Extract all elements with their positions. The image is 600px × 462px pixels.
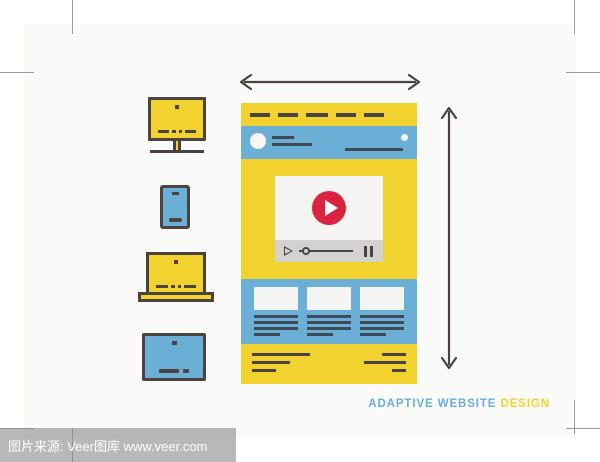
- card-text-lines: [360, 315, 404, 336]
- footer-right-line-2: [364, 361, 406, 364]
- crop-mark-top-left-horizontal: [0, 72, 34, 73]
- laptop-icon: [130, 252, 224, 304]
- caption-primary: ADAPTIVE WEBSITE: [368, 398, 496, 410]
- card-image-placeholder: [360, 287, 404, 310]
- phone-home-button: [169, 218, 182, 222]
- tablet-body: [142, 333, 206, 381]
- height-dimension-arrow: [439, 103, 459, 373]
- mockup-hero-header: [241, 126, 417, 159]
- header-text-line-2: [272, 143, 312, 146]
- watermark-text: 图片来源: Veer图库 www.veer.com: [8, 436, 207, 455]
- caption-accent: DESIGN: [501, 398, 551, 410]
- mockup-footer: [241, 344, 417, 384]
- card-image-placeholder: [254, 287, 298, 310]
- footer-left-line-2: [252, 361, 290, 364]
- avatar: [250, 133, 266, 149]
- watermark-bar: 图片来源: Veer图库 www.veer.com: [0, 428, 236, 462]
- website-mockup: [241, 103, 417, 384]
- smartphone-icon: [130, 185, 224, 233]
- device-icon-column: [130, 95, 230, 395]
- card-image-placeholder: [307, 287, 351, 310]
- laptop-content-bars: [156, 285, 196, 288]
- desktop-monitor-icon: [130, 95, 224, 155]
- monitor-screen: [148, 97, 206, 141]
- footer-left-line-1: [252, 353, 310, 356]
- laptop-screen: [146, 252, 206, 292]
- crop-mark-top-right-horizontal: [566, 72, 600, 73]
- header-text-line-3: [345, 148, 403, 151]
- footer-left-line-3: [252, 369, 276, 372]
- tablet-icon: [130, 333, 224, 385]
- play-button-icon[interactable]: [312, 191, 346, 225]
- mockup-nav-bar: [241, 103, 417, 126]
- content-card: [360, 287, 404, 339]
- card-text-lines: [307, 315, 351, 336]
- monitor-camera-dot: [175, 105, 179, 109]
- illustration-canvas: ADAPTIVE WEBSITE DESIGN 图片来源: Veer图库 www…: [0, 0, 600, 462]
- content-card: [254, 287, 298, 339]
- mockup-three-column-section: [241, 279, 417, 344]
- crop-mark-top-right-vertical: [574, 0, 575, 34]
- play-triangle-icon: [325, 200, 338, 216]
- card-text-lines: [254, 315, 298, 336]
- laptop-camera-dot: [174, 260, 178, 264]
- phone-speaker-slot: [172, 192, 179, 195]
- video-controls-bar: [275, 240, 383, 262]
- laptop-keyboard-base: [138, 292, 214, 302]
- video-player: [275, 176, 383, 262]
- footer-right-line-3: [392, 369, 406, 372]
- control-play-icon-inner: [285, 248, 291, 254]
- monitor-stand-base: [150, 150, 204, 153]
- notification-dot-icon: [401, 134, 408, 141]
- width-dimension-arrow: [236, 72, 424, 92]
- progress-slider-knob[interactable]: [302, 247, 310, 255]
- tablet-content-bars: [159, 369, 189, 373]
- monitor-content-bars: [158, 130, 196, 133]
- control-pause-icon[interactable]: [364, 246, 373, 257]
- crop-mark-bottom-right-horizontal: [566, 428, 600, 429]
- footer-right-line-1: [382, 353, 406, 356]
- content-card: [307, 287, 351, 339]
- video-screen: [275, 176, 383, 240]
- header-text-line-1: [272, 136, 294, 139]
- phone-body: [160, 185, 190, 229]
- tablet-camera-dot: [172, 341, 177, 345]
- crop-mark-top-left-vertical: [72, 0, 73, 34]
- caption: ADAPTIVE WEBSITE DESIGN: [368, 398, 550, 410]
